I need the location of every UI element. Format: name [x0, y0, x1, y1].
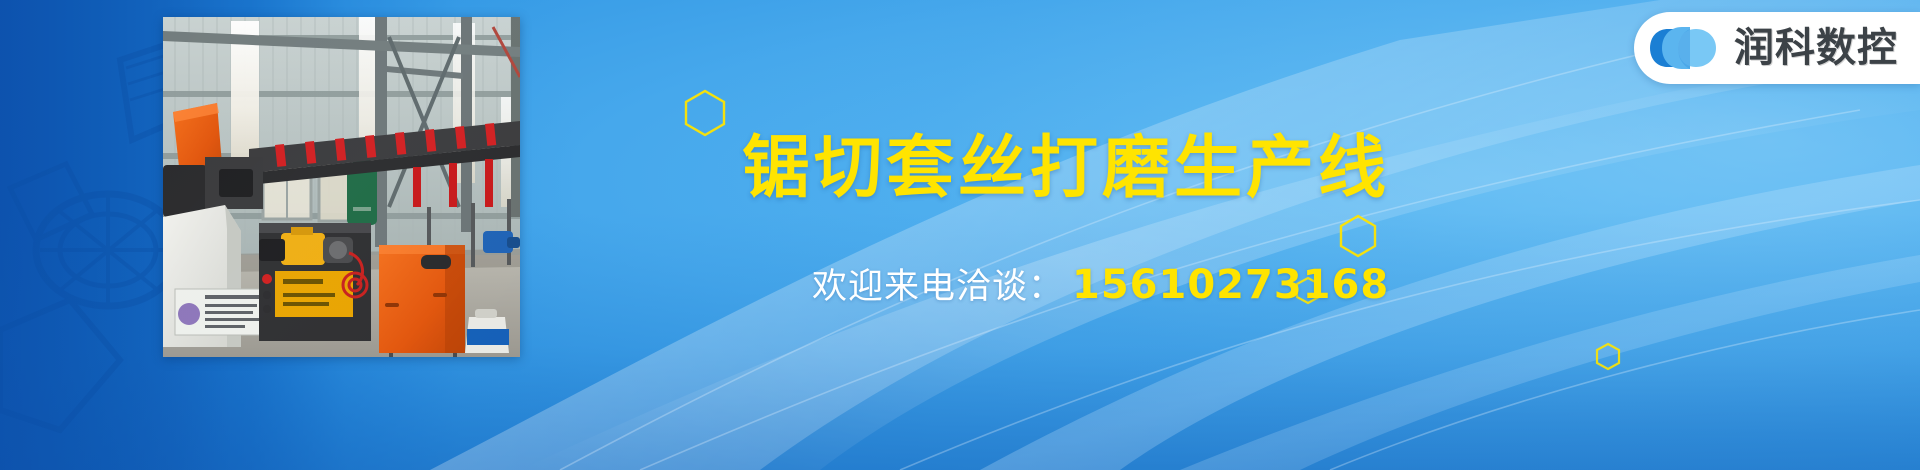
- promo-banner: 锯切套丝打磨生产线 欢迎来电洽谈： 15610273168 润科数控: [0, 0, 1920, 470]
- contact-line: 欢迎来电洽谈： 15610273168: [812, 258, 1389, 309]
- three-lobe-cloud-mark: [1648, 23, 1720, 73]
- factory-production-line-photo: [163, 17, 520, 357]
- photo-content: [163, 17, 520, 357]
- brand-name: 润科数控: [1734, 28, 1898, 68]
- phone-number[interactable]: 15610273168: [1072, 262, 1389, 308]
- contact-label: 欢迎来电洽谈：: [812, 258, 1064, 309]
- brand-logo[interactable]: 润科数控: [1634, 12, 1920, 84]
- page-title: 锯切套丝打磨生产线: [742, 133, 1390, 204]
- cloud-lobes-icon: [1648, 23, 1720, 73]
